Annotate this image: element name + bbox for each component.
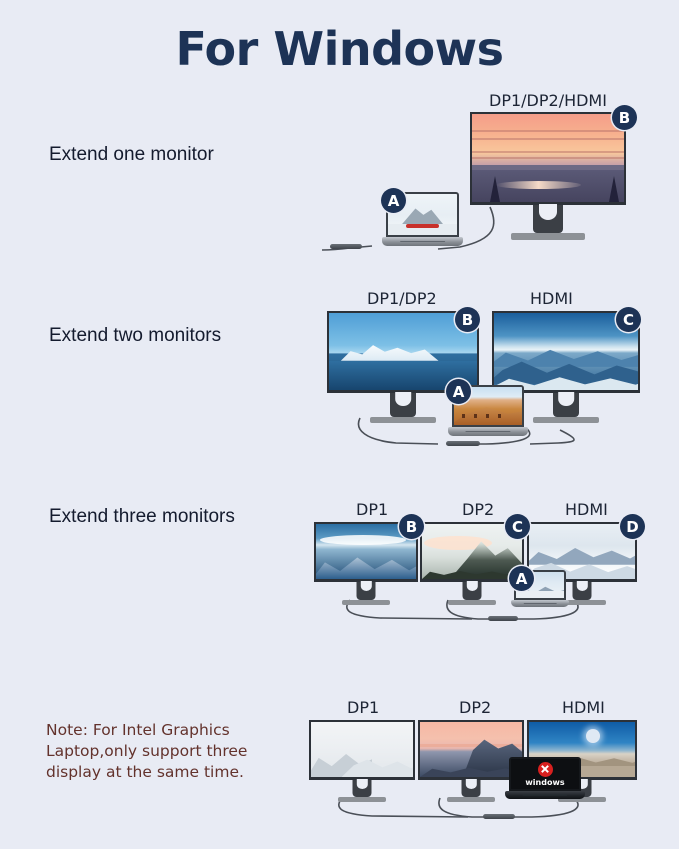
screen-image-pink-rock	[420, 722, 522, 777]
laptop-base	[511, 600, 569, 607]
port-caption-hdmi-section4: HDMI	[562, 698, 605, 717]
laptop-section4-unsupported: windows	[509, 757, 581, 799]
monitor-neck	[390, 393, 416, 417]
dock-section2	[446, 441, 480, 446]
badge-a-section2: A	[446, 379, 471, 404]
cable-section4	[322, 798, 622, 826]
laptop-base	[448, 427, 529, 436]
monitor-base	[533, 417, 599, 423]
port-caption-dp1-dp2-hdmi: DP1/DP2/HDMI	[489, 91, 607, 110]
badge-b-section2: B	[455, 307, 480, 332]
section-label-extend-two-monitors: Extend two monitors	[49, 325, 221, 347]
laptop-base	[505, 791, 586, 799]
monitor-base	[511, 233, 585, 240]
port-caption-dp2-section3: DP2	[462, 500, 494, 519]
red-x-icon	[538, 762, 553, 777]
port-caption-hdmi-section3: HDMI	[565, 500, 608, 519]
monitor-base	[447, 797, 495, 802]
monitor-base	[370, 417, 436, 423]
monitor-neck	[573, 582, 592, 600]
port-caption-hdmi-section2: HDMI	[530, 289, 573, 308]
monitor-neck	[353, 780, 372, 797]
screen-image-snow-valley	[311, 722, 413, 777]
monitor-base	[448, 600, 496, 605]
monitor-base	[338, 797, 386, 802]
laptop-screen: windows	[509, 757, 581, 791]
port-caption-dp1-dp2: DP1/DP2	[367, 289, 437, 308]
monitor-neck	[357, 582, 376, 600]
section-label-extend-one-monitor: Extend one monitor	[49, 144, 214, 166]
badge-a-section3: A	[509, 566, 534, 591]
monitor-neck	[533, 205, 563, 233]
note-text: Note: For Intel Graphics Laptop,only sup…	[46, 720, 276, 783]
infographic-page: For Windows Extend one monitor DP1/DP2/H…	[0, 0, 679, 849]
monitor-dp1-section4	[309, 720, 415, 780]
badge-d-section3: D	[620, 514, 645, 539]
monitor-neck	[553, 393, 579, 417]
screen-image-sunset	[472, 114, 624, 202]
badge-b-section3: B	[399, 514, 424, 539]
page-title: For Windows	[0, 22, 679, 76]
port-caption-dp2-section4: DP2	[459, 698, 491, 717]
badge-a-section1: A	[381, 188, 406, 213]
dock-section4	[483, 814, 515, 819]
dock-section3	[488, 616, 518, 621]
port-caption-dp1-section4: DP1	[347, 698, 379, 717]
monitor-neck	[462, 780, 481, 797]
badge-c-section3: C	[505, 514, 530, 539]
section-label-extend-three-monitors: Extend three monitors	[49, 506, 235, 528]
monitor-base	[342, 600, 390, 605]
monitor-screen	[309, 720, 415, 780]
badge-c-section2: C	[616, 307, 641, 332]
port-caption-dp1-section3: DP1	[356, 500, 388, 519]
monitor-neck	[463, 582, 482, 600]
laptop-base	[382, 237, 464, 246]
monitor-dp1-dp2-hdmi	[470, 112, 626, 205]
dock-section1	[330, 244, 362, 249]
monitor-screen	[470, 112, 626, 205]
badge-b-section1: B	[612, 105, 637, 130]
windows-logo-label: windows	[525, 779, 564, 787]
